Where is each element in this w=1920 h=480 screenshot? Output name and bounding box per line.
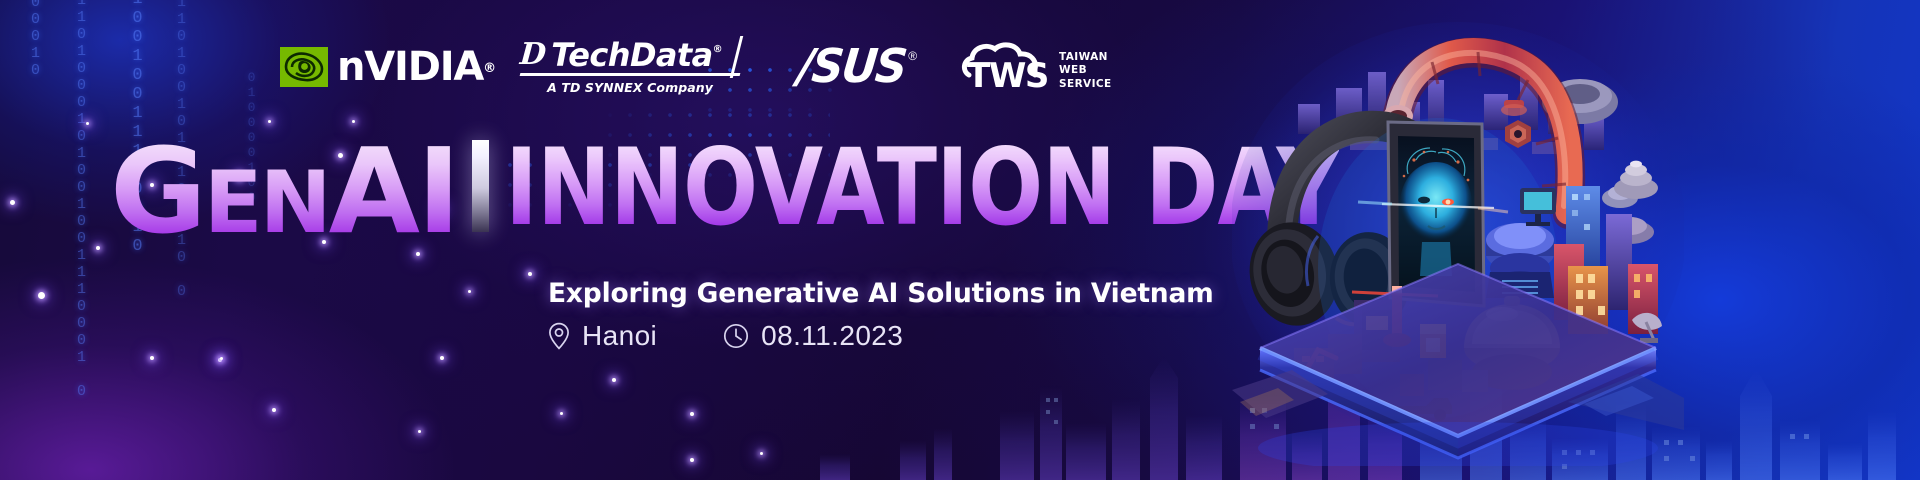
nvidia-wordmark: nVIDIA® [337,47,496,87]
logo-nvidia: nVIDIA® [280,47,496,87]
sparkle-dot [690,412,694,416]
event-location: Hanoi [548,320,657,352]
sparkle-dot [690,458,694,462]
sparkle-dot [10,200,15,205]
event-location-label: Hanoi [582,320,657,352]
registered-mark: ® [908,49,917,63]
tech-data-wordmark: TechData® [551,39,722,71]
isometric-ai-tech-city-illustration [1232,18,1684,466]
tech-data-tagline: A TD SYNNEX Company [547,80,713,95]
event-date: 08.11.2023 [723,320,903,352]
clock-icon [723,323,749,349]
event-subtitle: Exploring Generative AI Solutions in Vie… [548,278,1214,309]
binary-rain-column: 1101000101001001110001 0 [74,0,89,400]
asus-wordmark: /SUS [796,44,908,91]
tech-data-slash-rule [730,36,743,78]
sparkle-dot [528,272,532,276]
tws-sublabel-line: TAIWAN [1059,51,1112,64]
event-meta-row: Hanoi 08.11.2023 [548,320,903,352]
location-pin-icon [548,322,570,350]
logo-tws: TWS TAIWAN WEB SERVICE [961,39,1112,95]
title-divider-bar [472,140,489,232]
tws-wordmark: TWS [967,59,1048,93]
partner-logo-row: nVIDIA® D TechData® A TD SYNNEX Company … [280,36,1112,98]
sparkle-dot [440,356,444,360]
tech-data-underline [520,73,741,76]
registered-mark: ® [483,61,496,76]
sparkle-dot [96,246,100,250]
tech-data-monogram: D [519,40,547,70]
event-date-label: 08.11.2023 [761,320,903,352]
sparkle-dot [38,292,45,299]
sparkle-dot [468,290,471,293]
sparkle-dot [86,122,89,125]
tws-sublabel-line: WEB [1059,64,1112,77]
sparkle-dot [272,408,276,412]
headline-group: GENAI INNOVATION DAY [110,140,1402,240]
genai-brand-title: GENAI [110,143,458,240]
nvidia-eye-icon [280,47,328,87]
tws-sublabel-line: SERVICE [1059,78,1112,91]
innovation-day-title: INNOVATION DAY [505,144,1340,234]
sparkle-dot [612,378,616,382]
binary-rain-column: 00010 [28,0,43,79]
logo-tech-data: D TechData® A TD SYNNEX Company [520,39,740,95]
sparkle-dot [760,452,763,455]
registered-mark: ® [713,44,722,55]
sparkle-dot [268,120,271,123]
sparkle-dot [220,357,223,360]
genai-innovation-day-banner: 00010 1101000101001001110001 0 100100111… [0,0,1920,480]
sparkle-dot [560,412,563,415]
sparkle-dot [150,356,154,360]
tws-sublabel: TAIWAN WEB SERVICE [1059,51,1112,95]
logo-asus: /SUS ® [798,45,917,89]
sparkle-dot [218,358,222,362]
sparkle-dot [418,430,421,433]
